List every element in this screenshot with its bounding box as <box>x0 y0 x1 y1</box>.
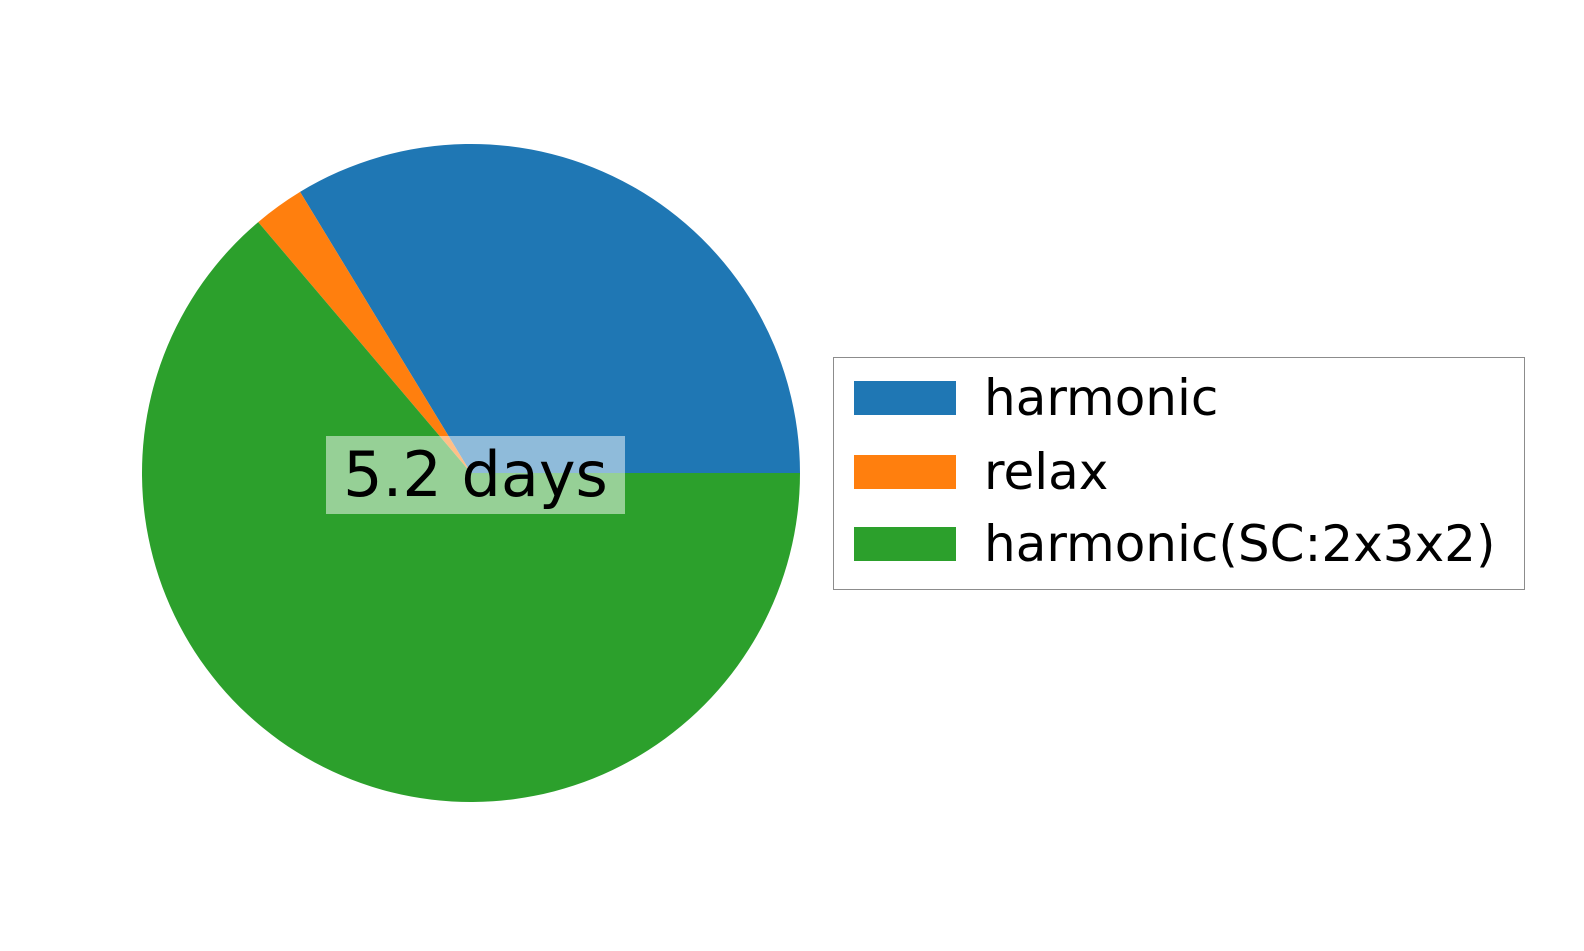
figure-canvas: 5.2 days harmonic relax harmonic(SC:2x3x… <box>0 0 1584 951</box>
legend-item-harmonic[interactable]: harmonic <box>854 381 1218 415</box>
legend-item-harmonic-sc[interactable]: harmonic(SC:2x3x2) <box>854 527 1496 561</box>
legend-label-harmonic-sc: harmonic(SC:2x3x2) <box>984 519 1496 569</box>
legend-label-relax: relax <box>984 447 1108 497</box>
pie-center-label: 5.2 days <box>326 436 625 514</box>
legend-swatch-harmonic <box>854 381 956 415</box>
legend-swatch-relax <box>854 455 956 489</box>
legend: harmonic relax harmonic(SC:2x3x2) <box>833 357 1525 590</box>
pie-center-label-text: 5.2 days <box>343 444 608 506</box>
legend-item-relax[interactable]: relax <box>854 455 1108 489</box>
legend-label-harmonic: harmonic <box>984 373 1218 423</box>
legend-swatch-harmonic-sc <box>854 527 956 561</box>
